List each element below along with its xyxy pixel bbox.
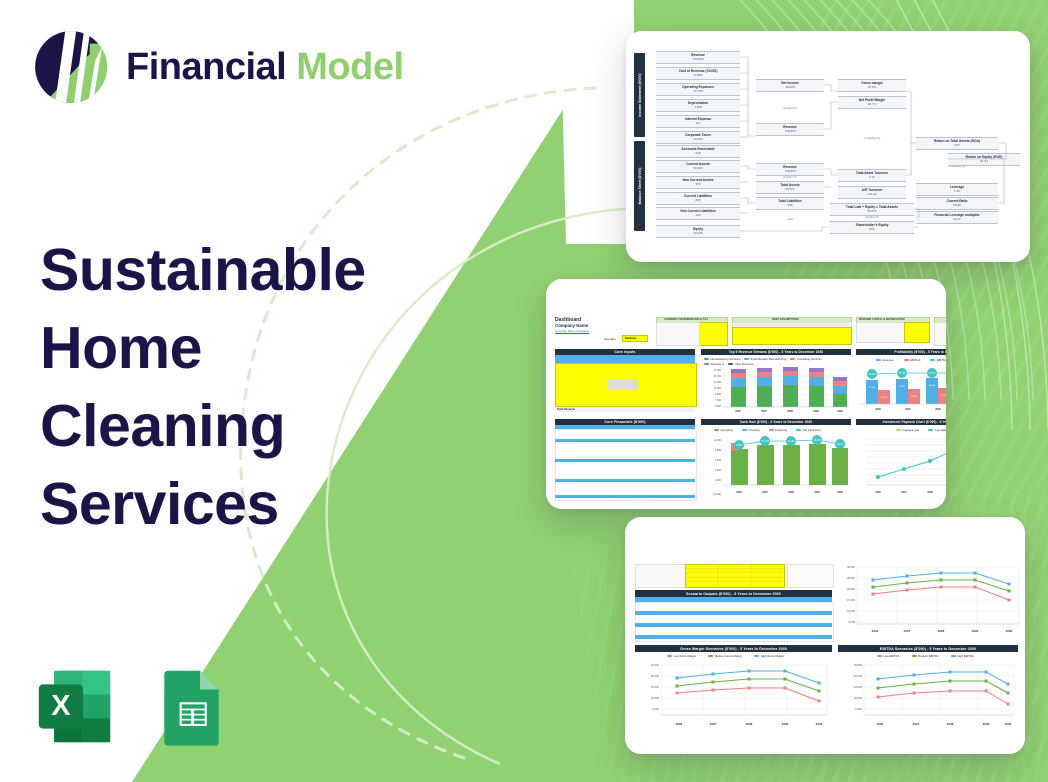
close-row	[555, 495, 695, 498]
assumption-active	[787, 564, 834, 588]
npat-row	[555, 479, 695, 482]
x-tick: 2028	[938, 629, 945, 633]
svg-text:19,600: 19,600	[941, 395, 946, 397]
svg-text:15,000: 15,000	[854, 685, 863, 689]
core-inputs-blank-cells	[608, 379, 638, 389]
legend-label: EBITDA %	[937, 358, 946, 362]
x-tick: 2030	[837, 491, 843, 494]
legend-label: Financing	[775, 428, 787, 432]
x-tick: 2027	[761, 410, 767, 413]
svg-text:4,000: 4,000	[715, 469, 722, 472]
dashboard-screenshot[interactable]: Dashboard Company Name Go to the Table o…	[546, 279, 946, 509]
legend-label: EBITDA	[910, 358, 920, 362]
ebitda-scenarios-chart: 25,00020,000 15,00010,000 5,000 2026 202…	[838, 659, 1018, 737]
brand-logo: Financial Model	[32, 28, 404, 106]
legend-label: Medium Gross Margin	[715, 654, 743, 658]
payback-chart: 72,00070,000 60,00050,000 40,00030,000 2…	[856, 433, 946, 499]
svg-text:17,500: 17,500	[881, 397, 888, 399]
svg-text:57.0%: 57.0%	[929, 373, 936, 375]
svg-text:15,000: 15,000	[847, 598, 855, 602]
x-tick: 2026	[875, 408, 881, 411]
x-tick: 2027	[913, 722, 920, 726]
x-tick: 2026	[676, 722, 683, 726]
svg-text:5,000: 5,000	[715, 405, 722, 408]
svg-text:15,000: 15,000	[714, 375, 722, 378]
gross-margin-row	[555, 439, 695, 442]
brand-name-part2: Model	[296, 46, 403, 88]
svg-text:(2,000): (2,000)	[713, 493, 721, 496]
title-line-1: Sustainable	[40, 232, 440, 310]
total-revenue-label: Total Revenue	[557, 408, 575, 411]
scenario-value: Medium	[625, 336, 636, 340]
svg-text:10,740: 10,740	[761, 441, 769, 443]
title-line-4: Services	[40, 466, 440, 544]
profitability-chart: 56.1%57.2% 57.0%57.5% 52.3% 31,50017,500…	[856, 364, 946, 413]
legend-label: Consulting Services	[797, 357, 822, 361]
svg-text:56.1%: 56.1%	[869, 374, 876, 376]
x-tick: 2030	[1006, 629, 1013, 633]
svg-text:7,000: 7,000	[715, 399, 722, 402]
microsoft-excel-icon: X	[32, 664, 117, 749]
contribution-margin-row	[635, 623, 832, 627]
svg-text:4,560: 4,560	[736, 445, 742, 447]
dupont-connectors	[626, 31, 1030, 262]
svg-text:12,000: 12,000	[714, 439, 722, 442]
svg-text:20,000: 20,000	[854, 674, 863, 678]
page-title: Sustainable Home Cleaning Services	[40, 232, 440, 544]
svg-text:20,000: 20,000	[651, 674, 660, 678]
debt-table-rows[interactable]	[732, 327, 852, 345]
svg-text:6,000: 6,000	[715, 459, 722, 462]
x-tick: 2027	[901, 491, 907, 494]
legend-label: Medium EBITDA	[918, 654, 939, 658]
svg-text:11,280: 11,280	[788, 441, 796, 443]
x-tick: 2029	[983, 722, 990, 726]
brand-name: Financial Model	[126, 48, 404, 86]
svg-text:34,600: 34,600	[929, 385, 936, 387]
svg-text:12,070: 12,070	[813, 440, 821, 442]
currency-labels	[656, 322, 700, 346]
svg-text:5,000: 5,000	[855, 707, 862, 711]
metrics-table	[934, 322, 946, 346]
svg-text:33,200: 33,200	[899, 386, 906, 388]
svg-text:11,000: 11,000	[714, 387, 722, 390]
svg-text:9,000: 9,000	[715, 393, 722, 396]
cash-flow-chart: 12,0009,000 6,0004,000 2,000(2,000)	[701, 433, 851, 499]
dupont-sheet: Income Statement ($'000) Balance Sheet (…	[626, 31, 1030, 262]
legend-label: Payback year	[903, 428, 920, 432]
gross-margin-row	[635, 611, 832, 615]
payback-header: Investment Payback Chart ($'000) - 5 Yea…	[856, 419, 946, 425]
currency-panel-title: CURRENCY DENOMINATION & TAX	[664, 318, 708, 321]
svg-text:5,000: 5,000	[652, 707, 659, 711]
title-line-3: Cleaning	[40, 388, 440, 466]
x-tick: 2029	[814, 491, 820, 494]
svg-text:25,000: 25,000	[847, 576, 855, 580]
assumption-grid	[685, 564, 783, 586]
ebitda-row	[635, 635, 832, 639]
title-line-2: Home	[40, 310, 440, 388]
revenue-streams-chart: 17,00015,000 13,00011,000 9,0007,000 5,0…	[701, 367, 851, 413]
x-tick: 2027	[905, 408, 911, 411]
debt-panel-title: DEBT ASSUMPTIONS	[772, 318, 799, 321]
legend-label: Small Repairs Manufacturing	[750, 357, 786, 361]
ebitda-row	[555, 459, 695, 462]
legend-label: Operating	[721, 428, 733, 432]
legend-label: High EBITDA	[957, 654, 974, 658]
legend-label: Revenue 4	[711, 362, 725, 366]
legend-label: Net Cash Flow	[803, 428, 821, 432]
svg-text:13,000: 13,000	[714, 381, 722, 384]
legend-label: Other Revenue	[735, 362, 754, 366]
profitability-header: Profitability ($'000) - 5 Years to Decem…	[856, 349, 946, 355]
scenario-outputs-header: Scenario Outputs ($'000) - 5 Years to De…	[635, 590, 832, 597]
dashboard-company-name: Company Name	[555, 323, 588, 328]
legend-label: High Gross Margin	[761, 654, 784, 658]
gross-margin-scenarios-chart: 25,00020,000 15,00010,000 5,000 2026 202…	[635, 659, 832, 737]
dashboard-sheet: Dashboard Company Name Go to the Table o…	[546, 279, 946, 509]
dupont-analysis-screenshot[interactable]: Income Statement ($'000) Balance Sheet (…	[626, 31, 1030, 262]
svg-text:5,000: 5,000	[849, 620, 856, 624]
scenario-label: Scenario	[604, 337, 616, 341]
legend-label: Investing	[748, 428, 759, 432]
svg-text:10,000: 10,000	[854, 696, 863, 700]
currency-values[interactable]	[698, 322, 728, 346]
svg-text:2,000: 2,000	[715, 479, 722, 482]
x-tick: 2027	[762, 491, 768, 494]
x-tick: 2027	[904, 629, 911, 633]
scenario-sheet: Scenario Outputs ($'000) - 5 Years to De…	[625, 517, 1025, 754]
table-of-contents-link[interactable]: Go to the Table of Contents	[555, 329, 589, 333]
svg-text:8,970: 8,970	[837, 444, 843, 446]
assumption-labels	[635, 564, 687, 588]
poster-canvas: Financial Model Sustainable Home Cleanin…	[0, 0, 1048, 782]
legend-label: Low Gross Margin	[674, 654, 697, 658]
svg-text:25,000: 25,000	[854, 663, 863, 667]
x-tick: 2026	[877, 722, 884, 726]
x-tick: 2030	[1005, 722, 1012, 726]
gross-margin-scenarios-header: Gross Margin Scenarios ($'000) - 5 Years…	[635, 645, 832, 652]
scenario-analysis-screenshot[interactable]: Scenario Outputs ($'000) - 5 Years to De…	[625, 517, 1025, 754]
svg-text:15,000: 15,000	[651, 685, 660, 689]
revenue-streams-header: Top 5 Revenue Streams ($'000) - 5 Years …	[701, 349, 851, 355]
wc-labels	[856, 322, 906, 343]
compatible-apps: X	[32, 664, 234, 749]
x-tick: 2028	[947, 722, 954, 726]
x-tick: 2028	[788, 491, 794, 494]
svg-text:10,000: 10,000	[651, 696, 660, 700]
x-tick: 2028	[746, 722, 753, 726]
revenue-scenarios-chart: 30,00025,000 20,00015,000 10,0005,000 20…	[833, 562, 1023, 640]
x-tick: 2028	[935, 408, 941, 411]
legend-label: Revenue	[883, 358, 894, 362]
x-tick: 2026	[735, 410, 741, 413]
x-tick: 2026	[872, 629, 879, 633]
svg-text:18,800: 18,800	[911, 396, 918, 398]
ebitda-scenarios-header: EBITDA Scenarios ($'000) - 5 Years to De…	[838, 645, 1018, 652]
x-tick: 2026	[875, 491, 881, 494]
financial-model-circle-logo	[32, 28, 110, 106]
svg-text:20,000: 20,000	[847, 587, 855, 591]
cash-flow-header: Cash flow ($'000) - 5 Years to December …	[701, 419, 851, 425]
x-tick: 2026	[736, 491, 742, 494]
x-tick: 2028	[787, 410, 793, 413]
x-tick: 2029	[972, 629, 979, 633]
x-tick: 2029	[782, 722, 789, 726]
wc-panel-title: WORKING CAPITAL & DEPRECIATION	[859, 318, 905, 321]
x-tick: 2027	[710, 722, 717, 726]
legend-label: Low EBITDA	[884, 654, 900, 658]
x-tick: 2028	[927, 491, 933, 494]
legend-label: Housekeeping Services	[711, 357, 740, 361]
total-revenue-row	[555, 407, 695, 412]
x-tick: 2029	[813, 410, 819, 413]
svg-text:17,000: 17,000	[714, 369, 722, 372]
svg-text:57.2%: 57.2%	[899, 373, 906, 375]
google-sheets-icon	[149, 664, 234, 749]
legend-label: Cumulative Cash Invested (Spent)	[935, 428, 946, 432]
wc-values[interactable]	[904, 322, 930, 343]
svg-text:X: X	[51, 690, 71, 722]
svg-text:31,500: 31,500	[869, 387, 876, 389]
svg-text:30,000: 30,000	[847, 565, 855, 569]
brand-name-part1: Financial	[126, 46, 286, 88]
svg-text:10,000: 10,000	[847, 609, 855, 613]
svg-text:9,000: 9,000	[715, 449, 722, 452]
x-tick: 2030	[816, 722, 823, 726]
x-tick: 2030	[837, 410, 843, 413]
svg-text:25,000: 25,000	[651, 663, 660, 667]
